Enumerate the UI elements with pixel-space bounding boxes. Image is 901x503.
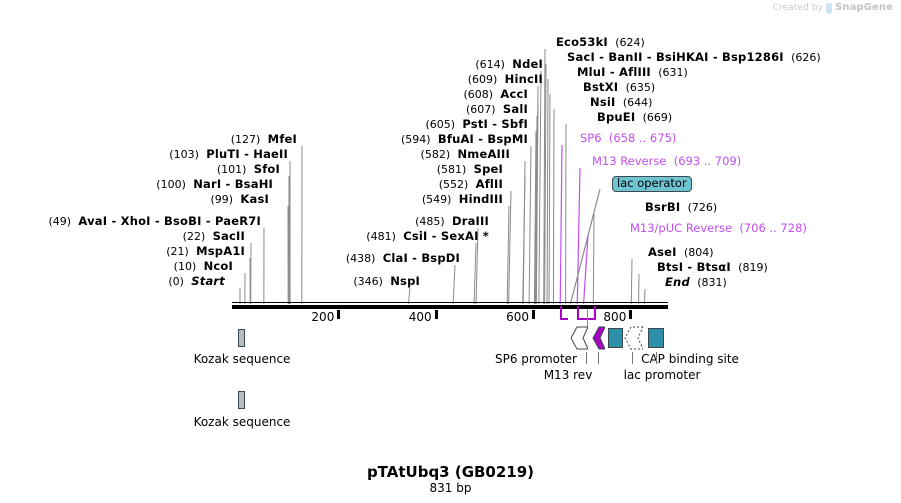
arrow-glyph <box>624 326 643 350</box>
ruler-tick-label-600: 600 <box>506 310 529 324</box>
track-feature-lac-operator[interactable] <box>608 328 623 348</box>
track-feature-sp6-promoter[interactable] <box>570 326 588 350</box>
track-feature-kozak-lower[interactable] <box>238 391 245 409</box>
ruler-tick-label-400: 400 <box>409 310 432 324</box>
track-caption-m13rev-cap[interactable]: M13 rev <box>544 368 593 382</box>
caption-connector-sp6-promoter-cap <box>586 352 587 364</box>
track-feature-cap-binding[interactable] <box>648 328 664 348</box>
plasmid-length: 831 bp <box>0 481 901 495</box>
bracket-m13-right-tick <box>594 306 596 320</box>
caption-connector-capbinding-cap <box>656 352 657 364</box>
ruler-tick-label-800: 800 <box>603 310 626 324</box>
bracket-sp6-left-tick <box>560 306 562 320</box>
arrow-glyph <box>570 326 588 350</box>
bracket-m13-left-tick <box>577 306 579 320</box>
ruler-tick-800 <box>629 310 632 319</box>
ruler-bar <box>232 305 668 309</box>
ruler-tick-400 <box>435 310 438 319</box>
ruler-tick-600 <box>532 310 535 319</box>
track-caption-kozak-upper-cap[interactable]: Kozak sequence <box>194 352 291 366</box>
snapgene-map-canvas: Created by SnapGene Eco53kI (624)SacI - … <box>0 0 901 503</box>
track-caption-kozak-lower-cap[interactable]: Kozak sequence <box>194 415 291 429</box>
bracket-m13 <box>577 318 594 320</box>
caption-connector-m13rev-cap <box>598 352 599 364</box>
caption-connector-lacpromoter-cap <box>632 352 633 364</box>
track-caption-lacpromoter-cap[interactable]: lac promoter <box>624 368 701 382</box>
ruler-tick-200 <box>337 310 340 319</box>
ruler-hairline <box>232 302 668 303</box>
track-feature-m13-rev[interactable] <box>592 326 605 350</box>
sequence-ruler: 200400600800Kozak sequenceSP6 promoterM1… <box>0 0 901 503</box>
track-feature-lac-promoter[interactable] <box>624 326 643 350</box>
ruler-tick-label-200: 200 <box>311 310 334 324</box>
track-caption-sp6-promoter-cap[interactable]: SP6 promoter <box>495 352 577 366</box>
track-feature-kozak-upper[interactable] <box>238 329 245 347</box>
arrow-glyph <box>592 326 605 350</box>
page-title: pTAtUbq3 (GB0219) <box>0 463 901 481</box>
